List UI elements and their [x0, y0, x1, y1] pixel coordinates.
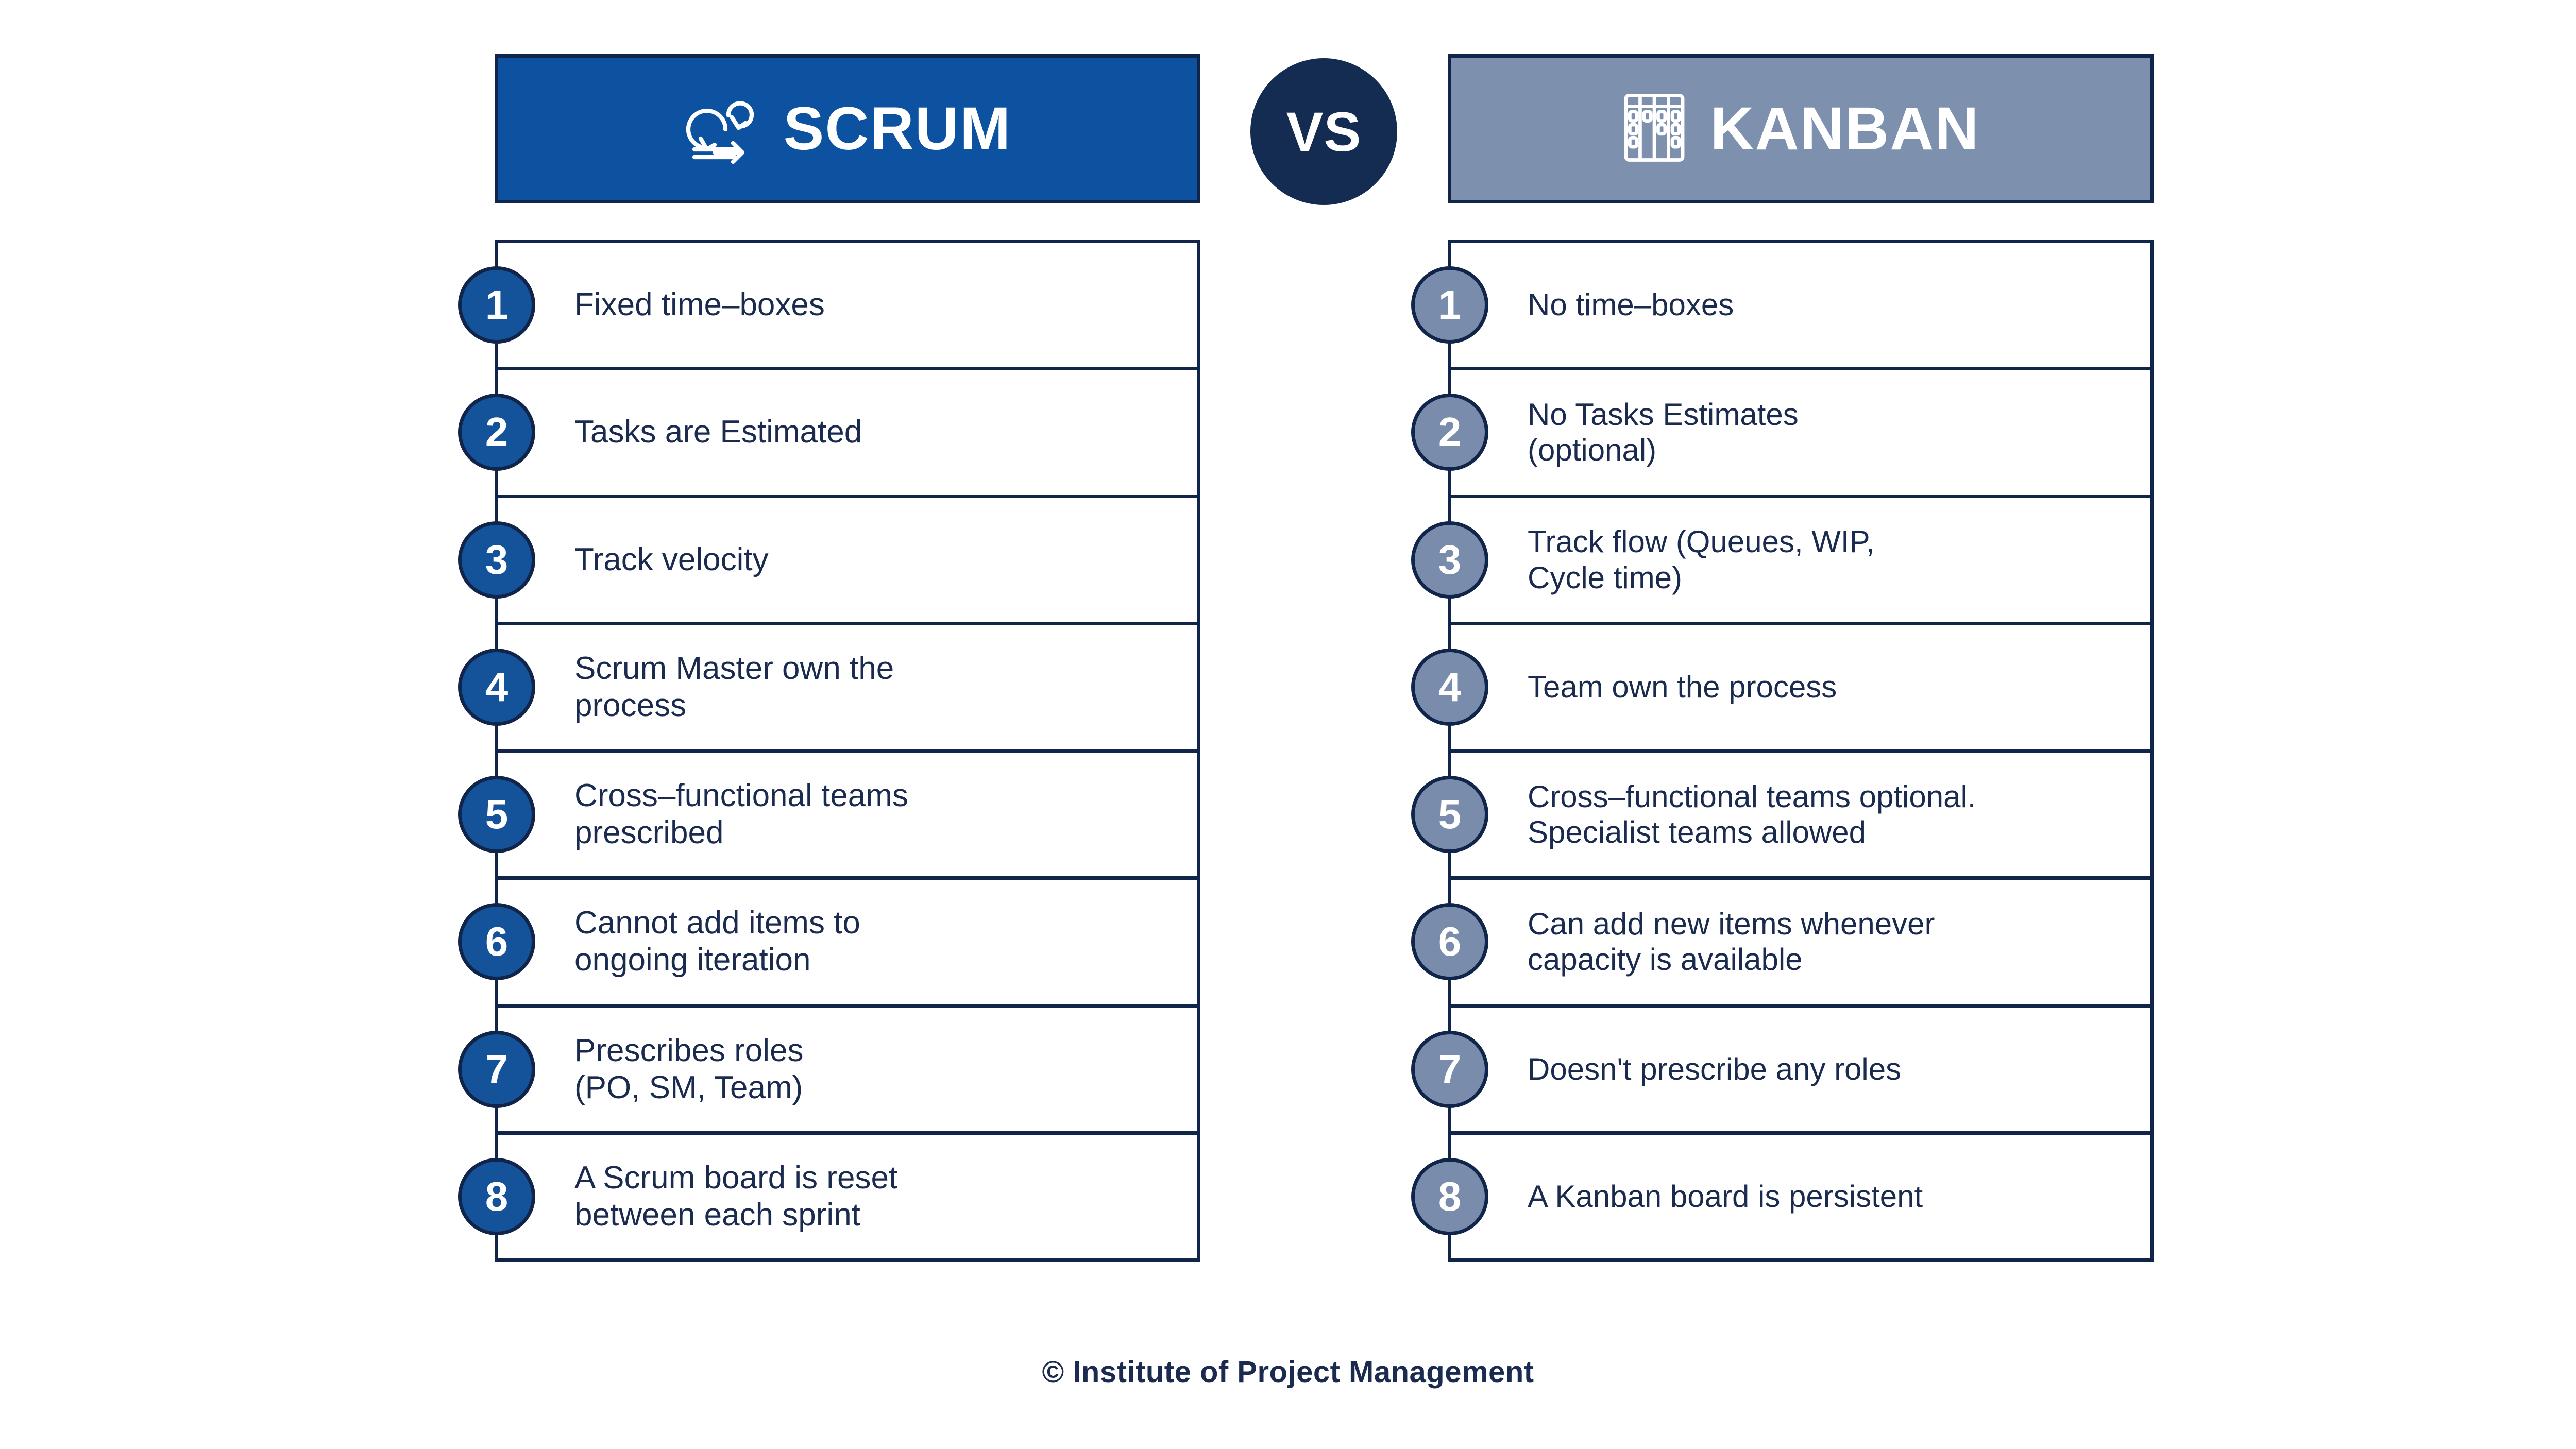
- scrum-item-text-8: A Scrum board is reset between each spri…: [574, 1160, 897, 1234]
- kanban-badge-5: 5: [1411, 776, 1488, 853]
- scrum-badge-6: 6: [458, 903, 535, 980]
- kanban-header-banner: KANBAN: [1448, 54, 2154, 203]
- list-item: 4 Scrum Master own the process: [498, 625, 1197, 753]
- agile-sprint-icon: [684, 89, 761, 169]
- kanban-title: KANBAN: [1710, 98, 1979, 159]
- badge-number: 5: [1438, 794, 1462, 835]
- kanban-item-text-1: No time–boxes: [1528, 287, 1734, 323]
- badge-number: 7: [1438, 1049, 1462, 1090]
- scrum-badge-4: 4: [458, 649, 535, 726]
- scrum-badge-1: 1: [458, 266, 535, 344]
- kanban-item-text-8: A Kanban board is persistent: [1528, 1179, 1923, 1215]
- kanban-badge-8: 8: [1411, 1158, 1488, 1235]
- scrum-badge-7: 7: [458, 1031, 535, 1108]
- scrum-badge-8: 8: [458, 1158, 535, 1235]
- kanban-list: 1 No time–boxes 2 No Tasks Estimates (op…: [1451, 243, 2150, 1258]
- badge-number: 6: [485, 921, 509, 962]
- badge-number: 6: [1438, 921, 1462, 962]
- kanban-item-text-7: Doesn't prescribe any roles: [1528, 1051, 1901, 1087]
- badge-number: 4: [1438, 667, 1462, 708]
- vs-label: VS: [1286, 104, 1361, 160]
- badge-number: 1: [485, 284, 509, 326]
- header-row: SCRUM VS: [0, 54, 2576, 219]
- list-item: 6 Cannot add items to ongoing iteration: [498, 880, 1197, 1007]
- scrum-badge-2: 2: [458, 394, 535, 471]
- badge-number: 8: [485, 1176, 509, 1217]
- list-item: 1 Fixed time–boxes: [498, 243, 1197, 370]
- badge-number: 2: [1438, 412, 1462, 453]
- list-item: 6 Can add new items whenever capacity is…: [1451, 880, 2150, 1007]
- scrum-item-text-2: Tasks are Estimated: [574, 414, 862, 451]
- kanban-panel: 1 No time–boxes 2 No Tasks Estimates (op…: [1448, 240, 2154, 1262]
- scrum-item-text-7: Prescribes roles (PO, SM, Team): [574, 1032, 803, 1106]
- badge-number: 8: [1438, 1176, 1462, 1217]
- badge-number: 7: [485, 1049, 509, 1090]
- list-item: 7 Doesn't prescribe any roles: [1451, 1008, 2150, 1135]
- list-item: 3 Track flow (Queues, WIP, Cycle time): [1451, 498, 2150, 625]
- badge-number: 2: [485, 412, 509, 453]
- vs-badge: VS: [1250, 58, 1397, 205]
- scrum-badge-5: 5: [458, 776, 535, 853]
- list-item: 4 Team own the process: [1451, 625, 2150, 753]
- scrum-panel: 1 Fixed time–boxes 2 Tasks are Estimated…: [495, 240, 1200, 1262]
- scrum-vs-kanban-infographic: SCRUM VS: [0, 0, 2576, 1449]
- scrum-header-banner: SCRUM: [495, 54, 1200, 203]
- kanban-badge-4: 4: [1411, 649, 1488, 726]
- list-item: 5 Cross–functional teams optional. Speci…: [1451, 753, 2150, 880]
- kanban-badge-7: 7: [1411, 1031, 1488, 1108]
- copyright-footer: © Institute of Project Management: [0, 1355, 2576, 1389]
- list-item: 8 A Kanban board is persistent: [1451, 1135, 2150, 1258]
- badge-number: 5: [485, 794, 509, 835]
- list-item: 3 Track velocity: [498, 498, 1197, 625]
- list-item: 8 A Scrum board is reset between each sp…: [498, 1135, 1197, 1258]
- list-item: 2 Tasks are Estimated: [498, 370, 1197, 498]
- badge-number: 1: [1438, 284, 1462, 326]
- scrum-item-text-6: Cannot add items to ongoing iteration: [574, 905, 860, 979]
- kanban-badge-3: 3: [1411, 521, 1488, 599]
- kanban-item-text-6: Can add new items whenever capacity is a…: [1528, 906, 1935, 978]
- scrum-item-text-3: Track velocity: [574, 541, 769, 578]
- badge-number: 3: [485, 539, 509, 581]
- badge-number: 4: [485, 667, 509, 708]
- kanban-badge-2: 2: [1411, 394, 1488, 471]
- kanban-item-text-4: Team own the process: [1528, 669, 1837, 705]
- list-item: 1 No time–boxes: [1451, 243, 2150, 370]
- list-item: 7 Prescribes roles (PO, SM, Team): [498, 1008, 1197, 1135]
- kanban-badge-6: 6: [1411, 903, 1488, 980]
- scrum-item-text-5: Cross–functional teams prescribed: [574, 777, 908, 851]
- scrum-badge-3: 3: [458, 521, 535, 599]
- badge-number: 3: [1438, 539, 1462, 581]
- scrum-list: 1 Fixed time–boxes 2 Tasks are Estimated…: [498, 243, 1197, 1258]
- list-item: 2 No Tasks Estimates (optional): [1451, 370, 2150, 498]
- scrum-item-text-1: Fixed time–boxes: [574, 286, 825, 323]
- scrum-item-text-4: Scrum Master own the process: [574, 650, 894, 724]
- kanban-item-text-5: Cross–functional teams optional. Special…: [1528, 779, 1976, 850]
- kanban-item-text-3: Track flow (Queues, WIP, Cycle time): [1528, 524, 1875, 595]
- kanban-item-text-2: No Tasks Estimates (optional): [1528, 397, 1799, 468]
- list-item: 5 Cross–functional teams prescribed: [498, 753, 1197, 880]
- kanban-badge-1: 1: [1411, 266, 1488, 344]
- kanban-board-icon: [1621, 89, 1687, 169]
- scrum-title: SCRUM: [784, 98, 1012, 159]
